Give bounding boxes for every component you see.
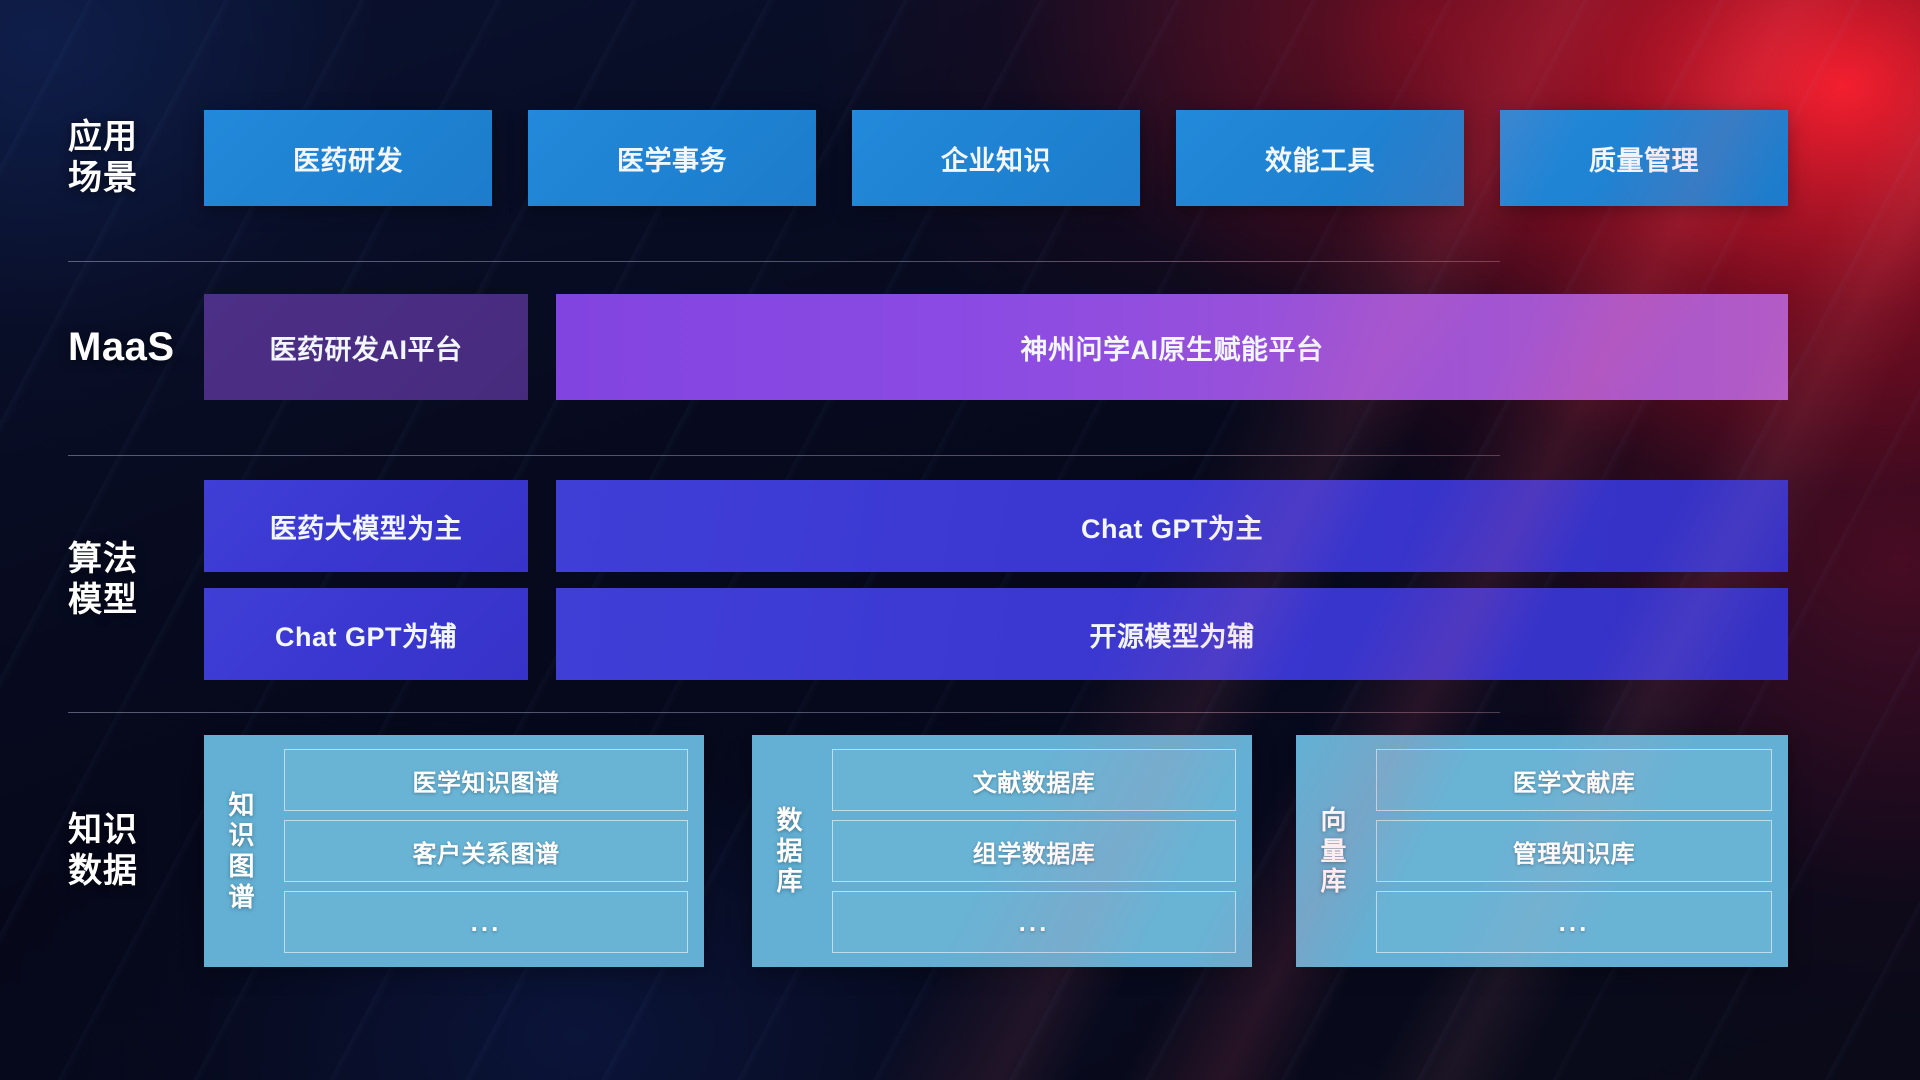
knowledge-group-vector-title-char-3: 库 (1320, 866, 1347, 897)
row-body-algorithm: 医药大模型为主 Chat GPT为主 Chat GPT为辅 开源模型为辅 (268, 480, 1920, 680)
knowledge-item-management-knowledge-label: 管理知识库 (1513, 834, 1636, 869)
knowledge-group-graph-title-char-2: 识 (228, 820, 255, 851)
knowledge-group-database-items: 文献数据库 组学数据库 ... (832, 749, 1236, 953)
knowledge-group-database-title-char-1: 数 (776, 805, 803, 836)
row-body-application: 医药研发 医学事务 企业知识 效能工具 质量管理 (268, 110, 1920, 206)
knowledge-item-database-more[interactable]: ... (832, 891, 1236, 953)
algo-box-drug-large-model-primary-label: 医药大模型为主 (270, 507, 463, 546)
divider-application-maas (68, 261, 1500, 262)
maas-box-shenzhou-platform-label: 神州问学AI原生赋能平台 (1021, 328, 1324, 367)
algo-box-chatgpt-primary-label: Chat GPT为主 (1081, 507, 1263, 546)
row-body-knowledge: 知 识 图 谱 医学知识图谱 客户关系图谱 ... (268, 735, 1920, 967)
app-box-efficiency-tools[interactable]: 效能工具 (1176, 110, 1464, 206)
knowledge-item-medical-literature-label: 医学文献库 (1513, 763, 1636, 798)
knowledge-item-graph-more[interactable]: ... (284, 891, 688, 953)
algo-box-chatgpt-secondary[interactable]: Chat GPT为辅 (204, 588, 528, 680)
maas-box-drug-ai-platform-label: 医药研发AI平台 (270, 328, 463, 367)
knowledge-item-medical-graph[interactable]: 医学知识图谱 (284, 749, 688, 811)
app-box-medical-affairs-label: 医学事务 (617, 139, 727, 178)
algo-box-chatgpt-secondary-label: Chat GPT为辅 (275, 615, 457, 654)
knowledge-group-vector-title-char-1: 向 (1320, 805, 1347, 836)
row-application-scenarios: 应用 场景 医药研发 医学事务 企业知识 效能工具 质量管理 (0, 110, 1920, 206)
knowledge-group-vector-title: 向 量 库 (1306, 749, 1362, 953)
knowledge-item-literature-db-label: 文献数据库 (973, 763, 1096, 798)
knowledge-group-graph: 知 识 图 谱 医学知识图谱 客户关系图谱 ... (204, 735, 704, 967)
app-box-quality-management[interactable]: 质量管理 (1500, 110, 1788, 206)
row-knowledge-data: 知识 数据 知 识 图 谱 医学知识图谱 客户关系图谱 (0, 735, 1920, 967)
knowledge-group-graph-title: 知 识 图 谱 (214, 749, 270, 953)
algo-box-drug-large-model-primary[interactable]: 医药大模型为主 (204, 480, 528, 572)
knowledge-item-literature-db[interactable]: 文献数据库 (832, 749, 1236, 811)
knowledge-item-vector-more[interactable]: ... (1376, 891, 1772, 953)
algo-box-open-source-secondary-label: 开源模型为辅 (1090, 615, 1255, 654)
knowledge-item-database-more-label: ... (1019, 907, 1050, 938)
knowledge-group-database-title: 数 据 库 (762, 749, 818, 953)
maas-box-shenzhou-platform[interactable]: 神州问学AI原生赋能平台 (556, 294, 1788, 400)
row-maas: MaaS 医药研发AI平台 神州问学AI原生赋能平台 (0, 294, 1920, 400)
knowledge-group-database-title-char-2: 据 (776, 836, 803, 867)
knowledge-item-medical-literature[interactable]: 医学文献库 (1376, 749, 1772, 811)
knowledge-item-medical-graph-label: 医学知识图谱 (413, 763, 560, 798)
knowledge-item-management-knowledge[interactable]: 管理知识库 (1376, 820, 1772, 882)
app-box-enterprise-knowledge-label: 企业知识 (941, 139, 1051, 178)
knowledge-item-omics-db-label: 组学数据库 (973, 834, 1096, 869)
architecture-diagram: 应用 场景 医药研发 医学事务 企业知识 效能工具 质量管理 MaaS (0, 0, 1920, 1080)
knowledge-group-graph-title-char-4: 谱 (228, 882, 255, 913)
divider-algorithm-knowledge (68, 712, 1500, 713)
knowledge-group-vector-title-char-2: 量 (1320, 836, 1347, 867)
app-box-drug-rd-label: 医药研发 (293, 139, 403, 178)
knowledge-item-customer-graph-label: 客户关系图谱 (413, 834, 560, 869)
app-box-medical-affairs[interactable]: 医学事务 (528, 110, 816, 206)
knowledge-item-omics-db[interactable]: 组学数据库 (832, 820, 1236, 882)
app-box-quality-management-label: 质量管理 (1589, 139, 1699, 178)
algo-box-open-source-secondary[interactable]: 开源模型为辅 (556, 588, 1788, 680)
knowledge-item-vector-more-label: ... (1559, 907, 1590, 938)
knowledge-group-graph-items: 医学知识图谱 客户关系图谱 ... (284, 749, 688, 953)
divider-maas-algorithm (68, 455, 1500, 456)
algo-box-chatgpt-primary[interactable]: Chat GPT为主 (556, 480, 1788, 572)
knowledge-item-graph-more-label: ... (471, 907, 502, 938)
app-box-efficiency-tools-label: 效能工具 (1265, 139, 1375, 178)
row-body-maas: 医药研发AI平台 神州问学AI原生赋能平台 (268, 294, 1920, 400)
maas-box-drug-ai-platform[interactable]: 医药研发AI平台 (204, 294, 528, 400)
app-box-drug-rd[interactable]: 医药研发 (204, 110, 492, 206)
knowledge-item-customer-graph[interactable]: 客户关系图谱 (284, 820, 688, 882)
knowledge-group-vector-items: 医学文献库 管理知识库 ... (1376, 749, 1772, 953)
knowledge-group-database-title-char-3: 库 (776, 866, 803, 897)
knowledge-group-graph-title-char-1: 知 (228, 790, 255, 821)
app-box-enterprise-knowledge[interactable]: 企业知识 (852, 110, 1140, 206)
knowledge-group-vector: 向 量 库 医学文献库 管理知识库 ... (1296, 735, 1788, 967)
knowledge-group-graph-title-char-3: 图 (228, 851, 255, 882)
row-algorithm-model: 算法 模型 医药大模型为主 Chat GPT为主 Chat GPT为辅 开源模型… (0, 480, 1920, 680)
knowledge-group-database: 数 据 库 文献数据库 组学数据库 ... (752, 735, 1252, 967)
